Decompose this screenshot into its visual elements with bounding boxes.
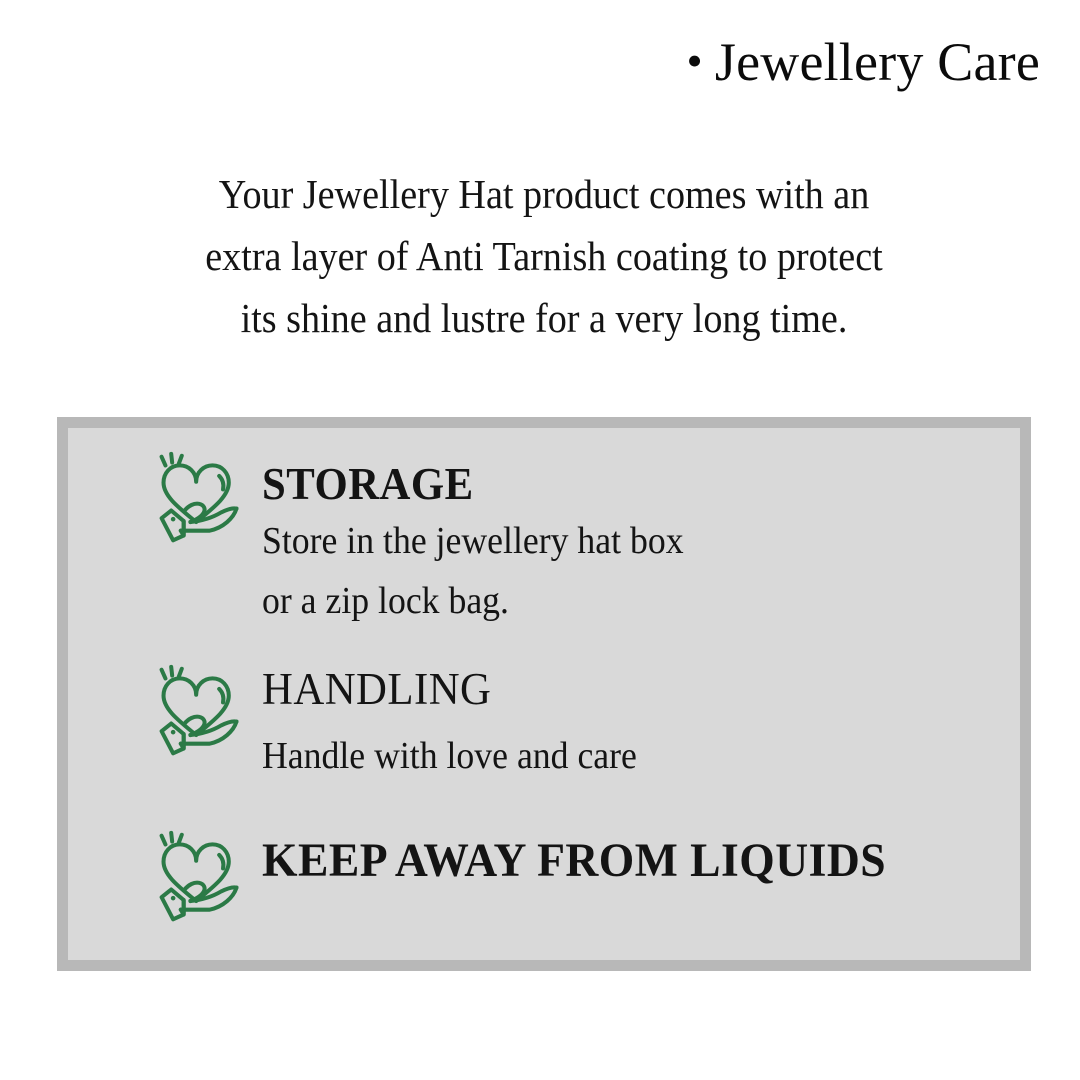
hand-holding-heart-icon: [152, 451, 248, 547]
care-desc-line-1: Store in the jewellery hat box: [262, 511, 684, 571]
intro-paragraph: Your Jewellery Hat product comes with an…: [94, 163, 994, 349]
care-item-description: Handle with love and care: [262, 726, 637, 786]
intro-line-2: extra layer of Anti Tarnish coating to p…: [94, 225, 994, 287]
hand-holding-heart-icon: [152, 830, 248, 926]
care-item-keep-away-from-liquids: KEEP AWAY FROM LIQUIDS: [152, 828, 919, 926]
page-title: •Jewellery Care: [687, 34, 1040, 91]
care-item-heading: HANDLING: [262, 662, 641, 716]
care-item-heading: STORAGE: [262, 457, 688, 511]
care-instructions-card: STORAGE Store in the jewellery hat box o…: [57, 417, 1031, 971]
care-item-handling: HANDLING Handle with love and care: [152, 656, 661, 786]
care-item-text: KEEP AWAY FROM LIQUIDS: [262, 828, 919, 888]
care-desc-line-1: Handle with love and care: [262, 726, 637, 786]
care-item-heading: KEEP AWAY FROM LIQUIDS: [262, 834, 886, 888]
care-instructions-list: STORAGE Store in the jewellery hat box o…: [68, 428, 1020, 960]
care-item-description: Store in the jewellery hat box or a zip …: [262, 511, 684, 631]
care-item-text: HANDLING Handle with love and care: [262, 656, 661, 786]
intro-line-3: its shine and lustre for a very long tim…: [94, 287, 994, 349]
hand-holding-heart-icon: [152, 664, 248, 760]
care-item-text: STORAGE Store in the jewellery hat box o…: [262, 451, 711, 631]
care-desc-line-2: or a zip lock bag.: [262, 571, 684, 631]
page-title-text: Jewellery Care: [715, 32, 1040, 92]
care-item-storage: STORAGE Store in the jewellery hat box o…: [152, 451, 711, 631]
intro-line-1: Your Jewellery Hat product comes with an: [94, 163, 994, 225]
bullet-icon: •: [687, 37, 703, 85]
